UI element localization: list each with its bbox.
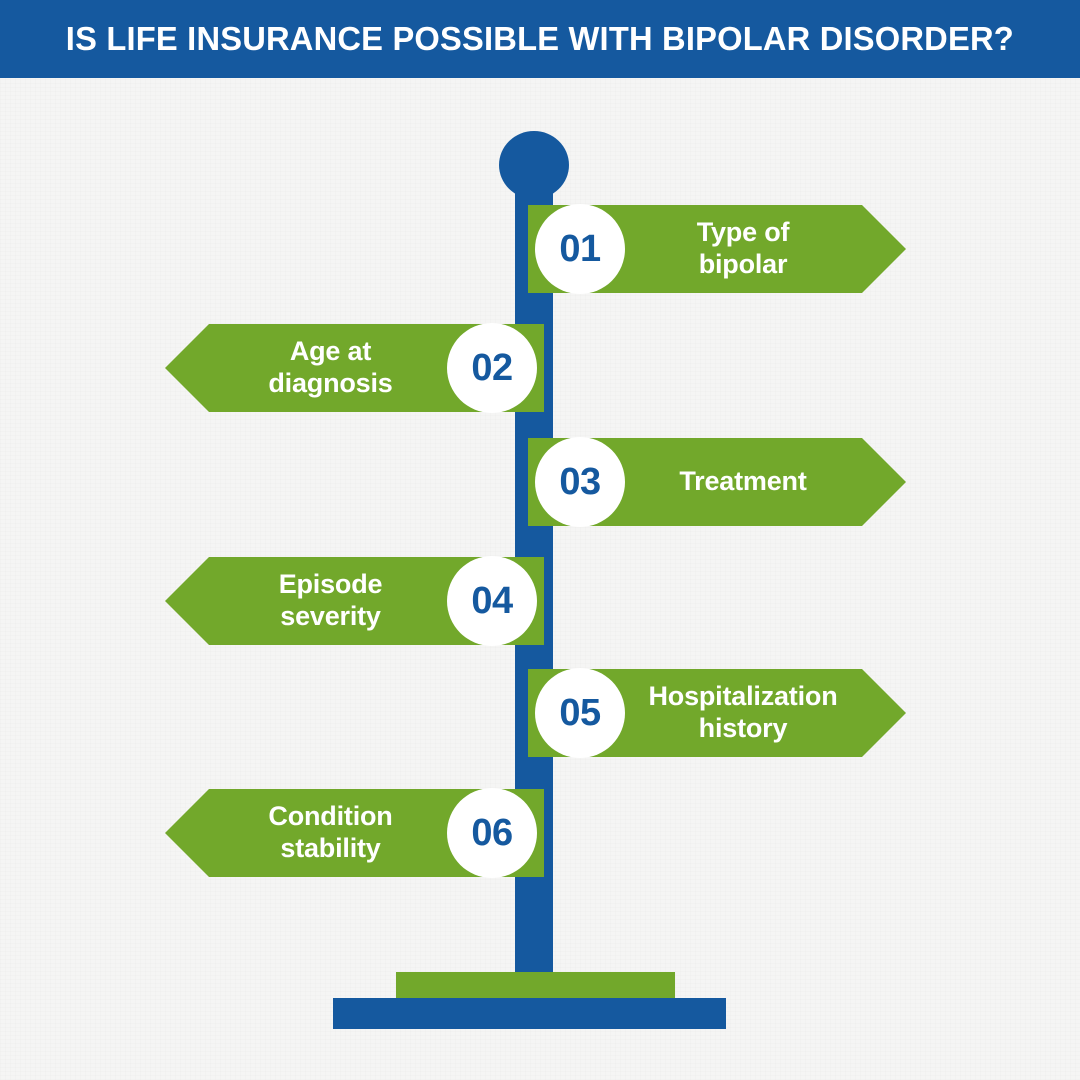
sign-03-label: Treatment: [626, 438, 860, 526]
sign-02-number: 02: [447, 323, 537, 413]
sign-06[interactable]: Condition stability 06: [165, 789, 544, 877]
sign-03-number: 03: [535, 437, 625, 527]
signpost-base-top: [396, 972, 675, 999]
page-title: IS LIFE INSURANCE POSSIBLE WITH BIPOLAR …: [66, 20, 1014, 58]
sign-02-label: Age at diagnosis: [215, 324, 446, 412]
sign-06-number: 06: [447, 788, 537, 878]
signpost-base-bottom: [333, 998, 726, 1029]
sign-04-number: 04: [447, 556, 537, 646]
sign-05[interactable]: Hospitalization history 05: [528, 669, 906, 757]
sign-01[interactable]: Type of bipolar 01: [528, 205, 906, 293]
title-banner: IS LIFE INSURANCE POSSIBLE WITH BIPOLAR …: [0, 0, 1080, 78]
infographic-canvas: IS LIFE INSURANCE POSSIBLE WITH BIPOLAR …: [0, 0, 1080, 1080]
sign-05-label: Hospitalization history: [626, 669, 860, 757]
sign-02[interactable]: Age at diagnosis 02: [165, 324, 544, 412]
sign-04-label: Episode severity: [215, 557, 446, 645]
sign-06-label: Condition stability: [215, 789, 446, 877]
sign-03[interactable]: Treatment 03: [528, 438, 906, 526]
sign-01-number: 01: [535, 204, 625, 294]
sign-01-label: Type of bipolar: [626, 205, 860, 293]
sign-05-number: 05: [535, 668, 625, 758]
sign-04[interactable]: Episode severity 04: [165, 557, 544, 645]
